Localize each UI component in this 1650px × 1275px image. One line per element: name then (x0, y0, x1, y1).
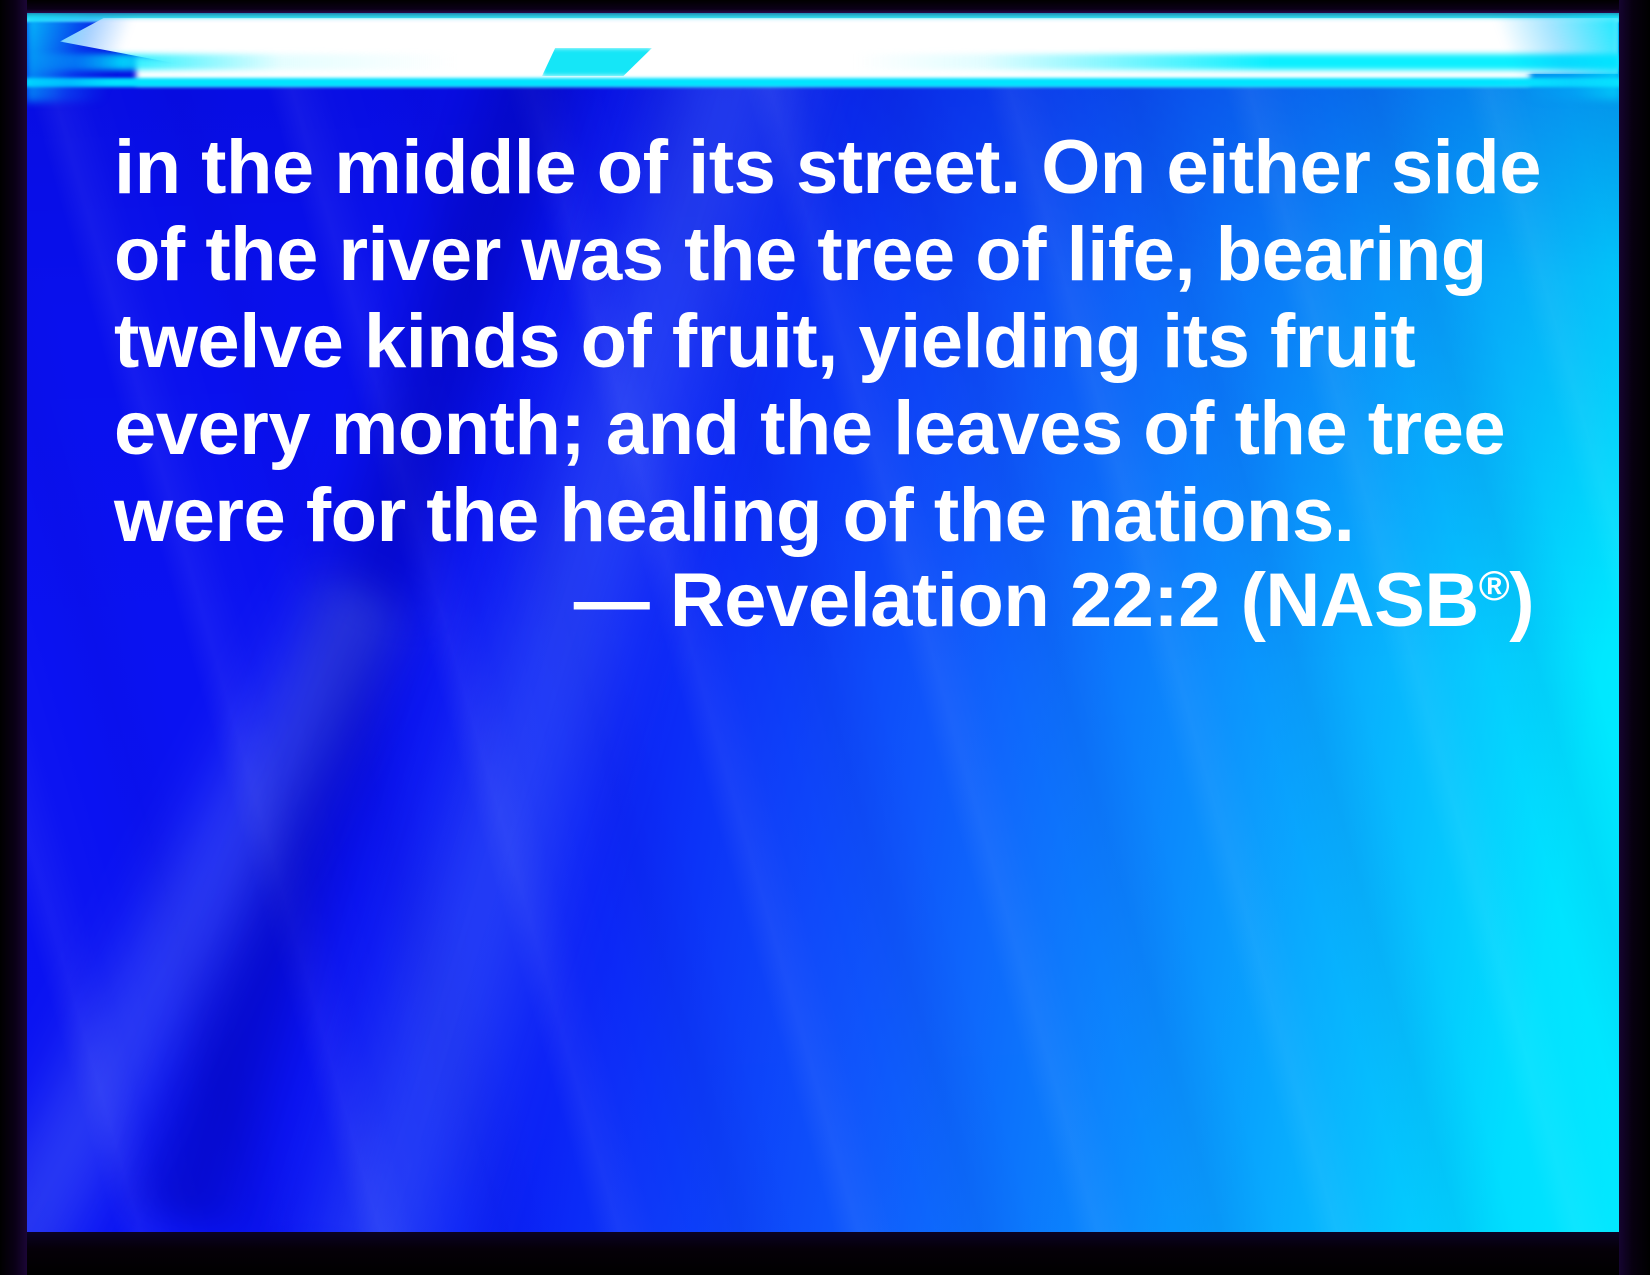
slide-canvas: in the middle of its street. On either s… (26, 12, 1620, 1232)
registered-trademark-icon: ® (1479, 562, 1509, 609)
glow-right-taper (1440, 16, 1620, 100)
glow-cyan-streak (26, 54, 1620, 70)
border-right (1619, 0, 1650, 1275)
verse-body-text: in the middle of its street. On either s… (114, 124, 1564, 559)
glow-cyan-bottom-edge (26, 78, 1620, 87)
verse-slide: in the middle of its street. On either s… (0, 0, 1650, 1275)
top-glow-band (26, 12, 1620, 98)
border-left (0, 0, 27, 1275)
attribution-prefix: — Revelation 22:2 (NASB (574, 558, 1479, 643)
verse-attribution: — Revelation 22:2 (NASB®) (114, 557, 1534, 644)
border-bottom (0, 1232, 1650, 1275)
glow-left-corner (26, 16, 146, 102)
attribution-suffix: ) (1509, 558, 1534, 643)
